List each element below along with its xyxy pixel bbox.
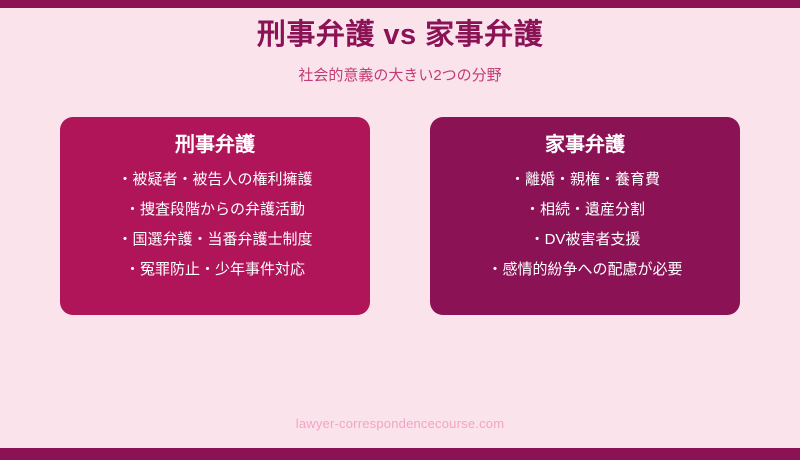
list-item: ・捜査段階からの弁護活動	[72, 195, 358, 225]
card-criminal-defense-heading: 刑事弁護	[72, 131, 358, 159]
page-subtitle: 社会的意義の大きい2つの分野	[0, 65, 800, 87]
list-item: ・DV被害者支援	[442, 225, 728, 255]
list-item: ・国選弁護・当番弁護士制度	[72, 225, 358, 255]
list-item: ・相続・遺産分割	[442, 195, 728, 225]
footer-url: lawyer-correspondencecourse.com	[0, 415, 800, 433]
list-item: ・離婚・親権・養育費	[442, 165, 728, 195]
card-family-defense-list: ・離婚・親権・養育費 ・相続・遺産分割 ・DV被害者支援 ・感情的紛争への配慮が…	[442, 165, 728, 285]
page-title: 刑事弁護 vs 家事弁護	[0, 17, 800, 53]
card-family-defense: 家事弁護 ・離婚・親権・養育費 ・相続・遺産分割 ・DV被害者支援 ・感情的紛争…	[430, 117, 740, 315]
card-family-defense-heading: 家事弁護	[442, 131, 728, 159]
slide-canvas: 刑事弁護 vs 家事弁護 社会的意義の大きい2つの分野 刑事弁護 ・被疑者・被告…	[0, 0, 800, 460]
bottom-accent-bar	[0, 448, 800, 460]
top-accent-bar	[0, 0, 800, 8]
list-item: ・被疑者・被告人の権利擁護	[72, 165, 358, 195]
list-item: ・感情的紛争への配慮が必要	[442, 255, 728, 285]
card-criminal-defense: 刑事弁護 ・被疑者・被告人の権利擁護 ・捜査段階からの弁護活動 ・国選弁護・当番…	[60, 117, 370, 315]
card-criminal-defense-list: ・被疑者・被告人の権利擁護 ・捜査段階からの弁護活動 ・国選弁護・当番弁護士制度…	[72, 165, 358, 285]
list-item: ・冤罪防止・少年事件対応	[72, 255, 358, 285]
